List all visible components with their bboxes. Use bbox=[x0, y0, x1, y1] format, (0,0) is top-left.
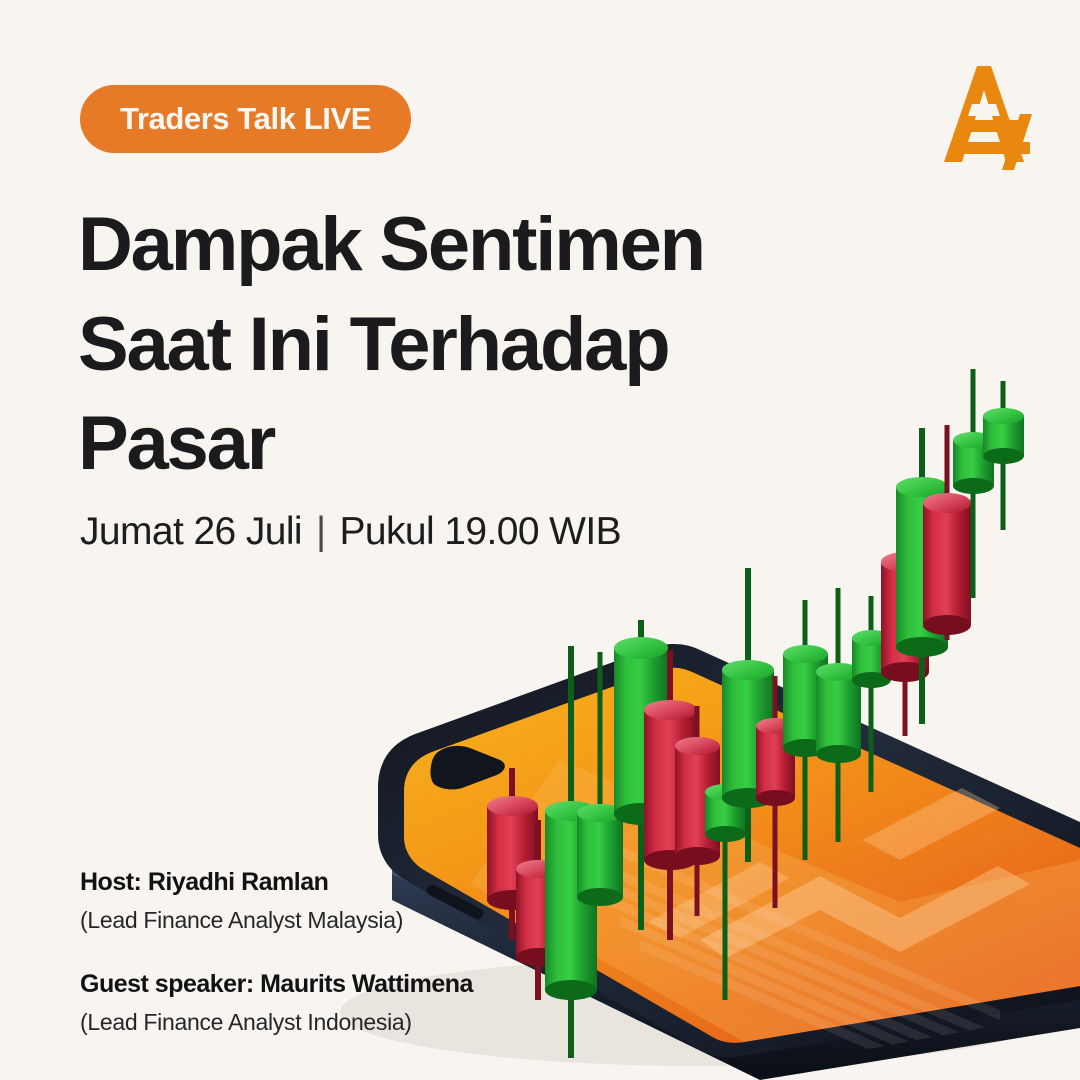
headline-line-2: Saat Ini Terhadap bbox=[78, 295, 798, 395]
host-role: (Lead Finance Analyst Malaysia) bbox=[80, 904, 473, 936]
candle-18-bullish bbox=[983, 381, 1024, 530]
schedule-separator: | bbox=[316, 510, 326, 554]
candle-17-bullish bbox=[953, 369, 994, 598]
speakers-block: Host: Riyadhi Ramlan (Lead Finance Analy… bbox=[80, 866, 473, 1038]
live-badge-label: Traders Talk LIVE bbox=[120, 101, 371, 137]
schedule-date: Jumat 26 Juli bbox=[80, 510, 302, 554]
host-entry: Host: Riyadhi Ramlan (Lead Finance Analy… bbox=[80, 866, 473, 936]
headline-line-1: Dampak Sentimen bbox=[78, 195, 798, 295]
schedule-time: Pukul 19.00 WIB bbox=[340, 510, 621, 554]
candle-13-bullish bbox=[852, 596, 891, 792]
candle-15-bullish bbox=[896, 428, 948, 724]
candle-8-bullish bbox=[705, 742, 746, 1000]
candle-6-bearish bbox=[644, 650, 697, 940]
candle-10-bearish bbox=[756, 676, 795, 908]
candle-4-bullish bbox=[577, 652, 623, 906]
guest-role: (Lead Finance Analyst Indonesia) bbox=[80, 1006, 473, 1038]
candle-14-bearish bbox=[881, 516, 929, 736]
guest-entry: Guest speaker: Maurits Wattimena (Lead F… bbox=[80, 968, 473, 1038]
letter-a-logo-icon bbox=[936, 58, 1032, 170]
live-badge: Traders Talk LIVE bbox=[80, 85, 411, 153]
host-name: Host: Riyadhi Ramlan bbox=[80, 866, 473, 900]
candle-1-bearish bbox=[487, 768, 538, 940]
headline-line-3: Pasar bbox=[78, 394, 798, 494]
candle-3-bullish bbox=[545, 646, 597, 1058]
candle-9-bullish bbox=[722, 568, 774, 862]
brand-logo bbox=[936, 58, 1032, 170]
candle-2-bearish bbox=[516, 820, 562, 1000]
promo-poster: Traders Talk LIVE Dampak Sentimen Saat I… bbox=[0, 0, 1080, 1080]
schedule-line: Jumat 26 Juli | Pukul 19.00 WIB bbox=[80, 510, 621, 554]
candle-7-bearish bbox=[675, 706, 720, 916]
page-title: Dampak Sentimen Saat Ini Terhadap Pasar bbox=[78, 195, 798, 494]
candle-11-bullish bbox=[783, 600, 828, 860]
candle-12-bullish bbox=[816, 588, 861, 842]
candle-16-bearish bbox=[923, 425, 971, 640]
guest-name: Guest speaker: Maurits Wattimena bbox=[80, 968, 473, 1002]
candle-5-bullish bbox=[614, 620, 668, 930]
